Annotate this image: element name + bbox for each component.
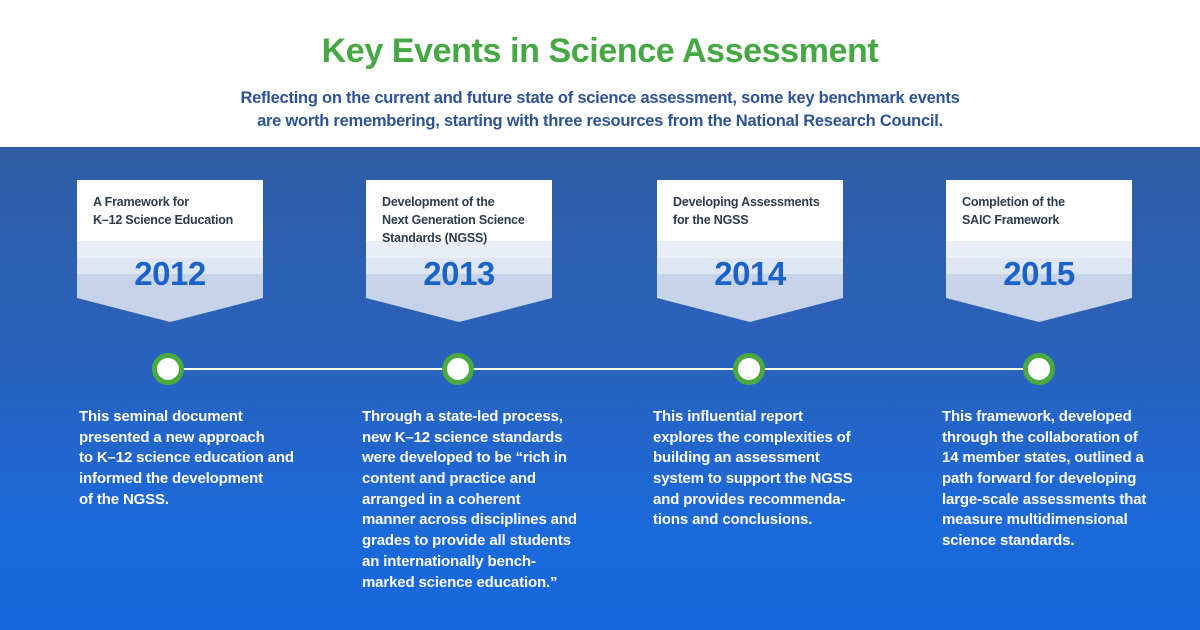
event-card-title: A Framework for K–12 Science Education [93, 194, 253, 230]
event-card-2015[interactable]: Completion of the SAIC Framework 2015 [946, 180, 1132, 322]
event-card-year: 2014 [657, 257, 843, 290]
event-description-2015: This framework, developed through the co… [942, 407, 1174, 552]
event-card-year: 2015 [946, 257, 1132, 290]
timeline-dot-2014[interactable] [733, 353, 765, 385]
infographic-root: Key Events in Science Assessment Reflect… [0, 0, 1200, 630]
event-card-title: Development of the Next Generation Scien… [382, 194, 542, 247]
event-description-2014: This influential report explores the com… [653, 407, 887, 531]
page-title: Key Events in Science Assessment [0, 32, 1200, 71]
event-description-2013: Through a state-led process, new K–12 sc… [362, 407, 600, 593]
timeline-panel: A Framework for K–12 Science Education 2… [0, 147, 1200, 630]
event-card-year: 2012 [77, 257, 263, 290]
timeline-dot-2013[interactable] [442, 353, 474, 385]
timeline-connector-line [168, 368, 1040, 370]
event-card-title: Developing Assessments for the NGSS [673, 194, 833, 230]
event-card-2013[interactable]: Development of the Next Generation Scien… [366, 180, 552, 322]
event-card-banner: Developing Assessments for the NGSS 2014 [657, 180, 843, 322]
timeline-dot-2015[interactable] [1023, 353, 1055, 385]
event-card-banner: A Framework for K–12 Science Education 2… [77, 180, 263, 322]
event-card-year: 2013 [366, 257, 552, 290]
event-card-banner: Development of the Next Generation Scien… [366, 180, 552, 322]
event-card-2012[interactable]: A Framework for K–12 Science Education 2… [77, 180, 263, 322]
page-subtitle: Reflecting on the current and future sta… [0, 87, 1200, 134]
event-card-banner: Completion of the SAIC Framework 2015 [946, 180, 1132, 322]
event-card-2014[interactable]: Developing Assessments for the NGSS 2014 [657, 180, 843, 322]
timeline-dot-2012[interactable] [152, 353, 184, 385]
event-card-title: Completion of the SAIC Framework [962, 194, 1122, 230]
header-section: Key Events in Science Assessment Reflect… [0, 0, 1200, 147]
event-description-2012: This seminal document presented a new ap… [79, 407, 309, 510]
